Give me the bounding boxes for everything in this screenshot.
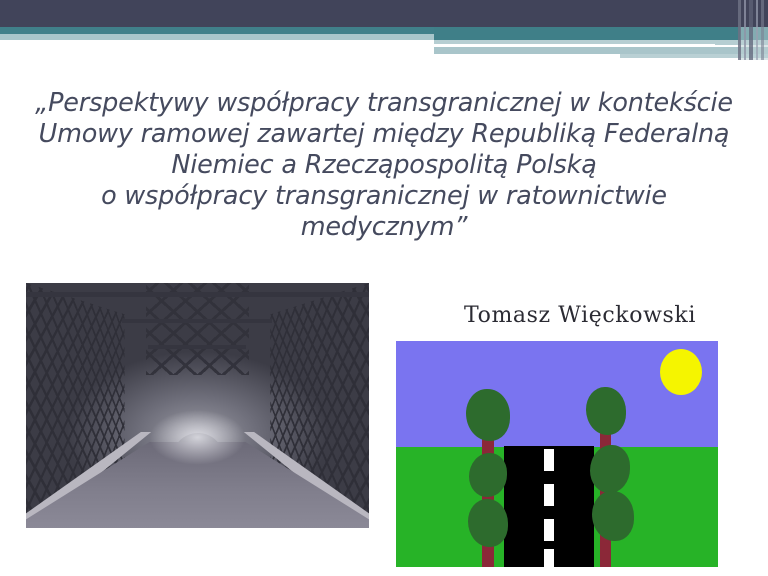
tree-right-foliage-top — [586, 387, 626, 435]
tree-right-foliage-mid — [590, 445, 630, 493]
tree-right-foliage-bottom — [592, 491, 634, 541]
tree-left-foliage-mid — [469, 453, 507, 497]
header-decoration-band — [0, 0, 768, 60]
bridge-crossbeam-1 — [26, 292, 369, 297]
header-pale-bar-left — [0, 34, 434, 40]
road-dash — [544, 484, 554, 506]
header-vertical-stripe-3 — [749, 0, 753, 60]
road-dash — [544, 449, 554, 471]
bridge-crossbeam-3 — [148, 345, 246, 349]
sun-icon — [660, 349, 702, 395]
header-vertical-stripe-1 — [738, 0, 741, 60]
road-drawing — [396, 341, 718, 567]
tree-left-foliage-top — [466, 389, 510, 441]
header-white-slit-2 — [434, 54, 620, 58]
header-pale-bar-right-2 — [434, 47, 768, 54]
road-dash — [544, 519, 554, 541]
author-name: Tomasz Więckowski — [430, 303, 730, 328]
bridge-crossbeam-2 — [122, 319, 272, 323]
slide-title: „Perspektywy współpracy transgranicznej … — [24, 88, 744, 243]
presentation-slide: „Perspektywy współpracy transgranicznej … — [0, 0, 768, 576]
bridge-photo — [26, 283, 369, 528]
header-dark-bar — [0, 0, 768, 27]
road-dash — [544, 549, 554, 567]
header-vertical-stripe-2 — [744, 0, 746, 60]
tree-left-foliage-bottom — [468, 499, 508, 547]
header-vertical-stripe-5 — [761, 0, 764, 60]
header-teal-bar-left — [0, 27, 434, 34]
header-vertical-stripe-4 — [756, 0, 758, 60]
header-teal-bar-right — [434, 27, 768, 40]
